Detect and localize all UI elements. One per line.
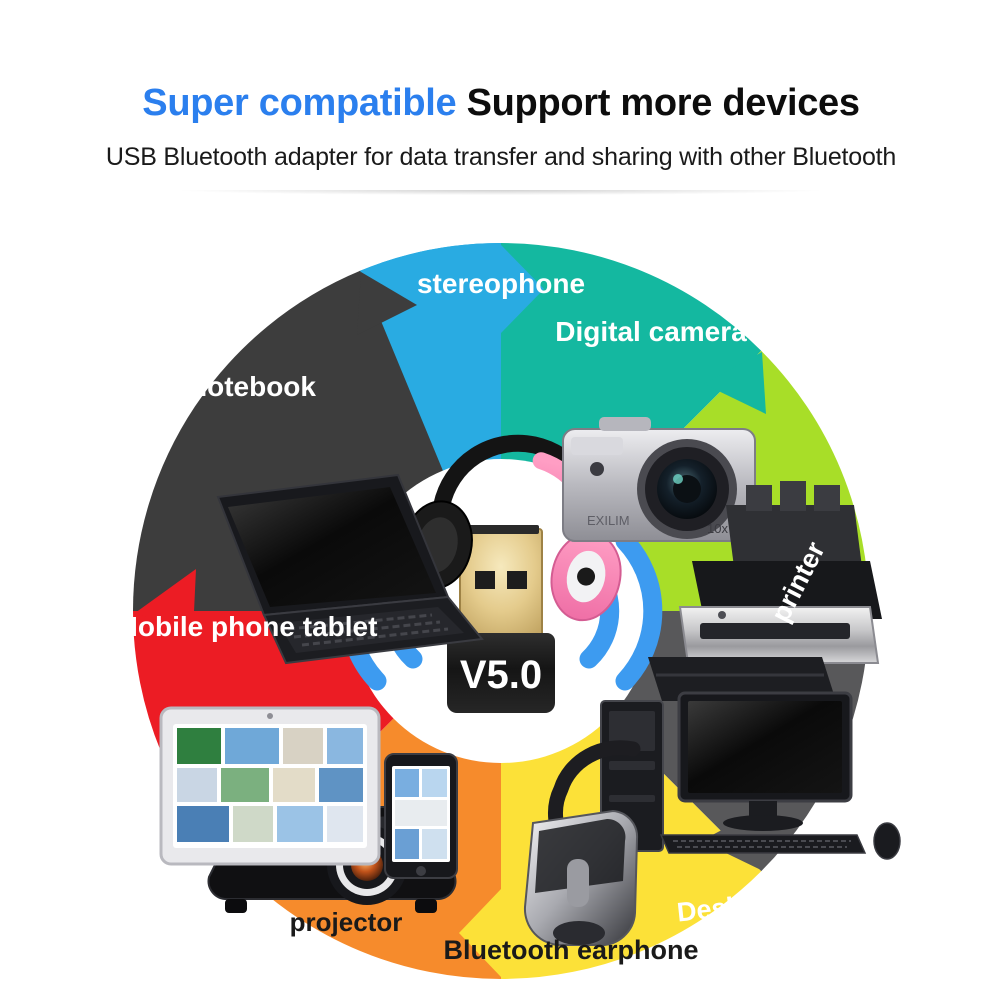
header: Super compatible Support more devices US…	[0, 0, 1002, 200]
segment-label-bluetooth-earphone: Bluetooth earphone	[444, 935, 699, 965]
page-subtitle: USB Bluetooth adapter for data transfer …	[0, 143, 1002, 172]
page-title: Super compatible Support more devices	[0, 82, 1002, 125]
headline-rest: Support more devices	[467, 82, 860, 124]
usb-contact-left	[475, 571, 495, 589]
svg-text:10x: 10x	[707, 521, 728, 536]
segment-label-notebook: notebook	[190, 371, 316, 402]
infographic-page: Super compatible Support more devices US…	[0, 0, 1002, 1002]
segment-label-mobile-phone-tablet: Mobile phone tablet	[115, 611, 378, 642]
camera-icon: EXILIM 10x	[563, 417, 755, 541]
headline-highlight: Super compatible	[142, 82, 456, 124]
segment-label-digital-camera: Digital camera	[555, 316, 747, 347]
version-label: V5.0	[460, 653, 542, 697]
segment-label-stereophone: stereophone	[417, 268, 585, 299]
usb-contact-right	[507, 571, 527, 589]
svg-text:EXILIM: EXILIM	[587, 513, 630, 528]
device-compatibility-wheel: V5.0	[61, 241, 941, 981]
wheel-svg: V5.0	[61, 241, 941, 981]
usb-connector-lip	[463, 525, 539, 534]
segment-label-projector: projector	[290, 907, 403, 937]
header-shadow	[50, 190, 952, 202]
